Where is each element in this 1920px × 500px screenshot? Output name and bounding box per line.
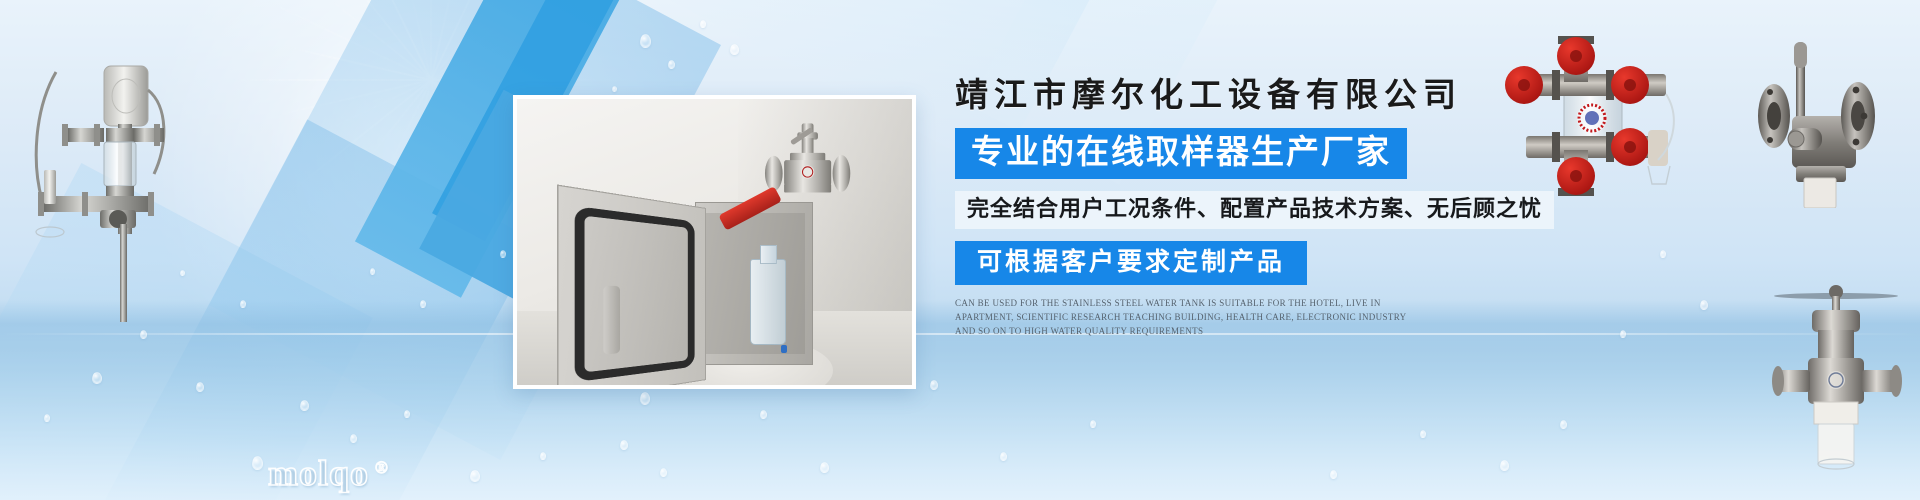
- water-droplet: [1700, 300, 1708, 310]
- water-droplet: [660, 468, 667, 477]
- product-flanged-needle-valve: [1770, 270, 1910, 480]
- water-droplet: [1420, 430, 1426, 438]
- water-droplet: [540, 452, 546, 460]
- product-flanged-lever-valve: [1740, 28, 1910, 208]
- water-droplet: [196, 382, 204, 392]
- water-droplet: [240, 300, 246, 308]
- brand-wordmark: molqo: [268, 455, 369, 491]
- promo-banner: 靖江市摩尔化工设备有限公司 专业的在线取样器生产厂家 完全结合用户工况条件、配置…: [0, 0, 1920, 500]
- water-droplet: [640, 392, 650, 405]
- water-droplet: [500, 250, 506, 258]
- subline-text: 完全结合用户工况条件、配置产品技术方案、无后顾之忧: [967, 195, 1542, 223]
- cta-highlight[interactable]: 可根据客户要求定制产品: [955, 241, 1307, 285]
- water-droplet: [612, 86, 617, 92]
- subline-highlight: 完全结合用户工况条件、配置产品技术方案、无后顾之忧: [955, 191, 1554, 229]
- water-droplet: [420, 300, 426, 308]
- water-droplet: [640, 34, 651, 48]
- water-droplet: [252, 456, 263, 470]
- company-name: 靖江市摩尔化工设备有限公司: [955, 78, 1695, 114]
- headline-highlight: 专业的在线取样器生产厂家: [955, 128, 1407, 179]
- water-droplet: [930, 380, 938, 390]
- water-droplet: [350, 434, 357, 443]
- water-droplet: [404, 410, 410, 418]
- registered-trademark-icon: ®: [375, 459, 388, 476]
- water-droplet: [620, 440, 628, 450]
- water-droplet: [1500, 460, 1509, 471]
- product-photo-frame: [513, 95, 916, 389]
- water-droplet: [92, 372, 102, 384]
- photo-door-gasket: [575, 205, 695, 382]
- brand-watermark: molqo ®: [268, 455, 388, 491]
- photo-cabinet-door: [557, 184, 706, 385]
- water-droplet: [1330, 470, 1337, 479]
- headline-text: 专业的在线取样器生产厂家: [971, 133, 1391, 172]
- photo-sample-bottle: [750, 259, 786, 345]
- photo-blue-cap: [781, 345, 787, 353]
- banner-copy: 靖江市摩尔化工设备有限公司 专业的在线取样器生产厂家 完全结合用户工况条件、配置…: [955, 78, 1695, 339]
- water-droplet: [1090, 420, 1096, 428]
- water-droplet: [820, 462, 829, 473]
- water-droplet: [668, 60, 675, 69]
- water-droplet: [730, 44, 739, 55]
- water-droplet: [470, 470, 480, 482]
- water-droplet: [700, 20, 706, 28]
- photo-door-handle: [604, 285, 620, 354]
- product-photo-sampler-cabinet: [517, 99, 912, 385]
- water-droplet: [370, 268, 375, 275]
- product-online-sampler-assembly: [8, 24, 188, 324]
- water-droplet: [300, 400, 309, 411]
- water-droplet: [44, 414, 50, 422]
- cta-text: 可根据客户要求定制产品: [977, 247, 1285, 277]
- english-description: CAN BE USED FOR THE STAINLESS STEEL WATE…: [955, 297, 1410, 339]
- water-droplet: [760, 410, 767, 419]
- water-droplet: [140, 330, 147, 339]
- water-droplet: [1560, 420, 1567, 429]
- water-droplet: [1000, 452, 1007, 461]
